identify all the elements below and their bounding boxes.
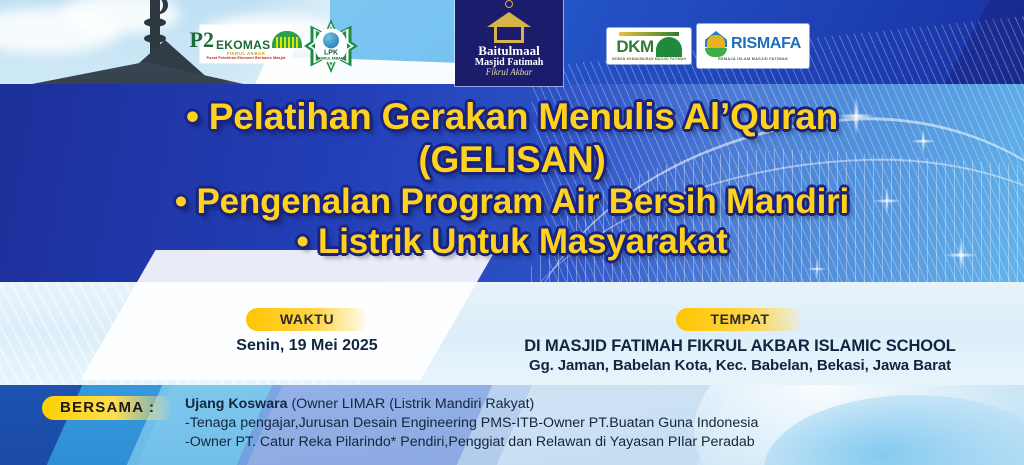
tempat-venue: DI MASJID FATIMAH FIKRUL AKBAR ISLAMIC S… bbox=[470, 337, 1010, 356]
event-banner: P2 EKOMAS FIKRUL AKBAR Pusat Pelatihan E… bbox=[0, 0, 1024, 465]
speaker-name: Ujang Koswara bbox=[185, 396, 288, 412]
waktu-label-badge: WAKTU bbox=[246, 308, 368, 331]
green-mosque-icon bbox=[656, 37, 682, 57]
bersama-line-1: Ujang Koswara (Owner LIMAR (Listrik Mand… bbox=[185, 395, 758, 414]
mosque-dome-icon bbox=[272, 31, 302, 48]
waktu-date: Senin, 19 Mei 2025 bbox=[182, 337, 432, 355]
headline-line-3: • Pengenalan Program Air Bersih Mandiri bbox=[0, 182, 1024, 223]
speaker-title: (Owner LIMAR (Listrik Mandiri Rakyat) bbox=[288, 396, 535, 412]
bersama-label-badge: BERSAMA : bbox=[42, 396, 173, 420]
tempat-column: TEMPAT DI MASJID FATIMAH FIKRUL AKBAR IS… bbox=[470, 308, 1010, 374]
bersama-line-3: -Owner PT. Catur Reka Pilarindo* Pendiri… bbox=[185, 433, 758, 452]
headline-block: • Pelatihan Gerakan Menulis Al’Quran (GE… bbox=[0, 96, 1024, 263]
rismafa-name: RISMAFA bbox=[731, 35, 801, 53]
lpk-code: LPK bbox=[324, 49, 338, 56]
dkm-name: DKM bbox=[616, 37, 653, 57]
dkm-rule bbox=[619, 32, 679, 36]
p2ekomas-sub2: Pusat Pelatihan Ekonomi Berbasis Masjid bbox=[206, 56, 285, 60]
logo-baitulmaal: Baitulmaal Masjid Fatimah Fikrul Akbar bbox=[455, 0, 563, 86]
tempat-address: Gg. Jaman, Babelan Kota, Kec. Babelan, B… bbox=[470, 357, 1010, 374]
headline-line-1: • Pelatihan Gerakan Menulis Al’Quran bbox=[0, 96, 1024, 139]
dkm-sub: DEWAN KEMAKMURAN MASJID FATIMAH bbox=[612, 57, 686, 61]
rismafa-dome-icon bbox=[705, 31, 727, 57]
waktu-column: WAKTU Senin, 19 Mei 2025 bbox=[182, 308, 432, 355]
logo-rismafa: RISMAFA REMAJA ISLAM MASJID FATIMAH bbox=[697, 24, 809, 68]
logo-strip: P2 EKOMAS FIKRUL AKBAR Pusat Pelatihan E… bbox=[0, 0, 1024, 86]
p2ekomas-mark: P2 bbox=[190, 29, 214, 51]
rismafa-sub: REMAJA ISLAM MASJID FATIMAH bbox=[718, 57, 788, 61]
headline-line-2: (GELISAN) bbox=[0, 139, 1024, 182]
tempat-label-badge: TEMPAT bbox=[676, 308, 803, 331]
logo-p2ekomas: P2 EKOMAS FIKRUL AKBAR Pusat Pelatihan E… bbox=[200, 25, 292, 63]
baitulmaal-line3: Fikrul Akbar bbox=[486, 68, 533, 78]
mosque-outline-icon bbox=[487, 8, 531, 42]
baitulmaal-line1: Baitulmaal bbox=[478, 44, 539, 58]
bersama-line-2: -Tenaga pengajar,Jurusan Desain Engineer… bbox=[185, 414, 758, 433]
globe-icon bbox=[323, 32, 339, 48]
logo-dkm: DKM DEWAN KEMAKMURAN MASJID FATIMAH bbox=[607, 28, 691, 64]
bersama-text: Ujang Koswara (Owner LIMAR (Listrik Mand… bbox=[185, 395, 758, 453]
lpk-ribbon: FIKRUL AKBAR bbox=[319, 56, 343, 60]
p2ekomas-name: EKOMAS bbox=[216, 39, 270, 51]
eight-point-star-badge-icon: LPK FIKRUL AKBAR bbox=[304, 19, 358, 73]
logo-lpk: LPK FIKRUL AKBAR bbox=[303, 18, 359, 74]
headline-line-4: • Listrik Untuk Masyarakat bbox=[0, 222, 1024, 263]
